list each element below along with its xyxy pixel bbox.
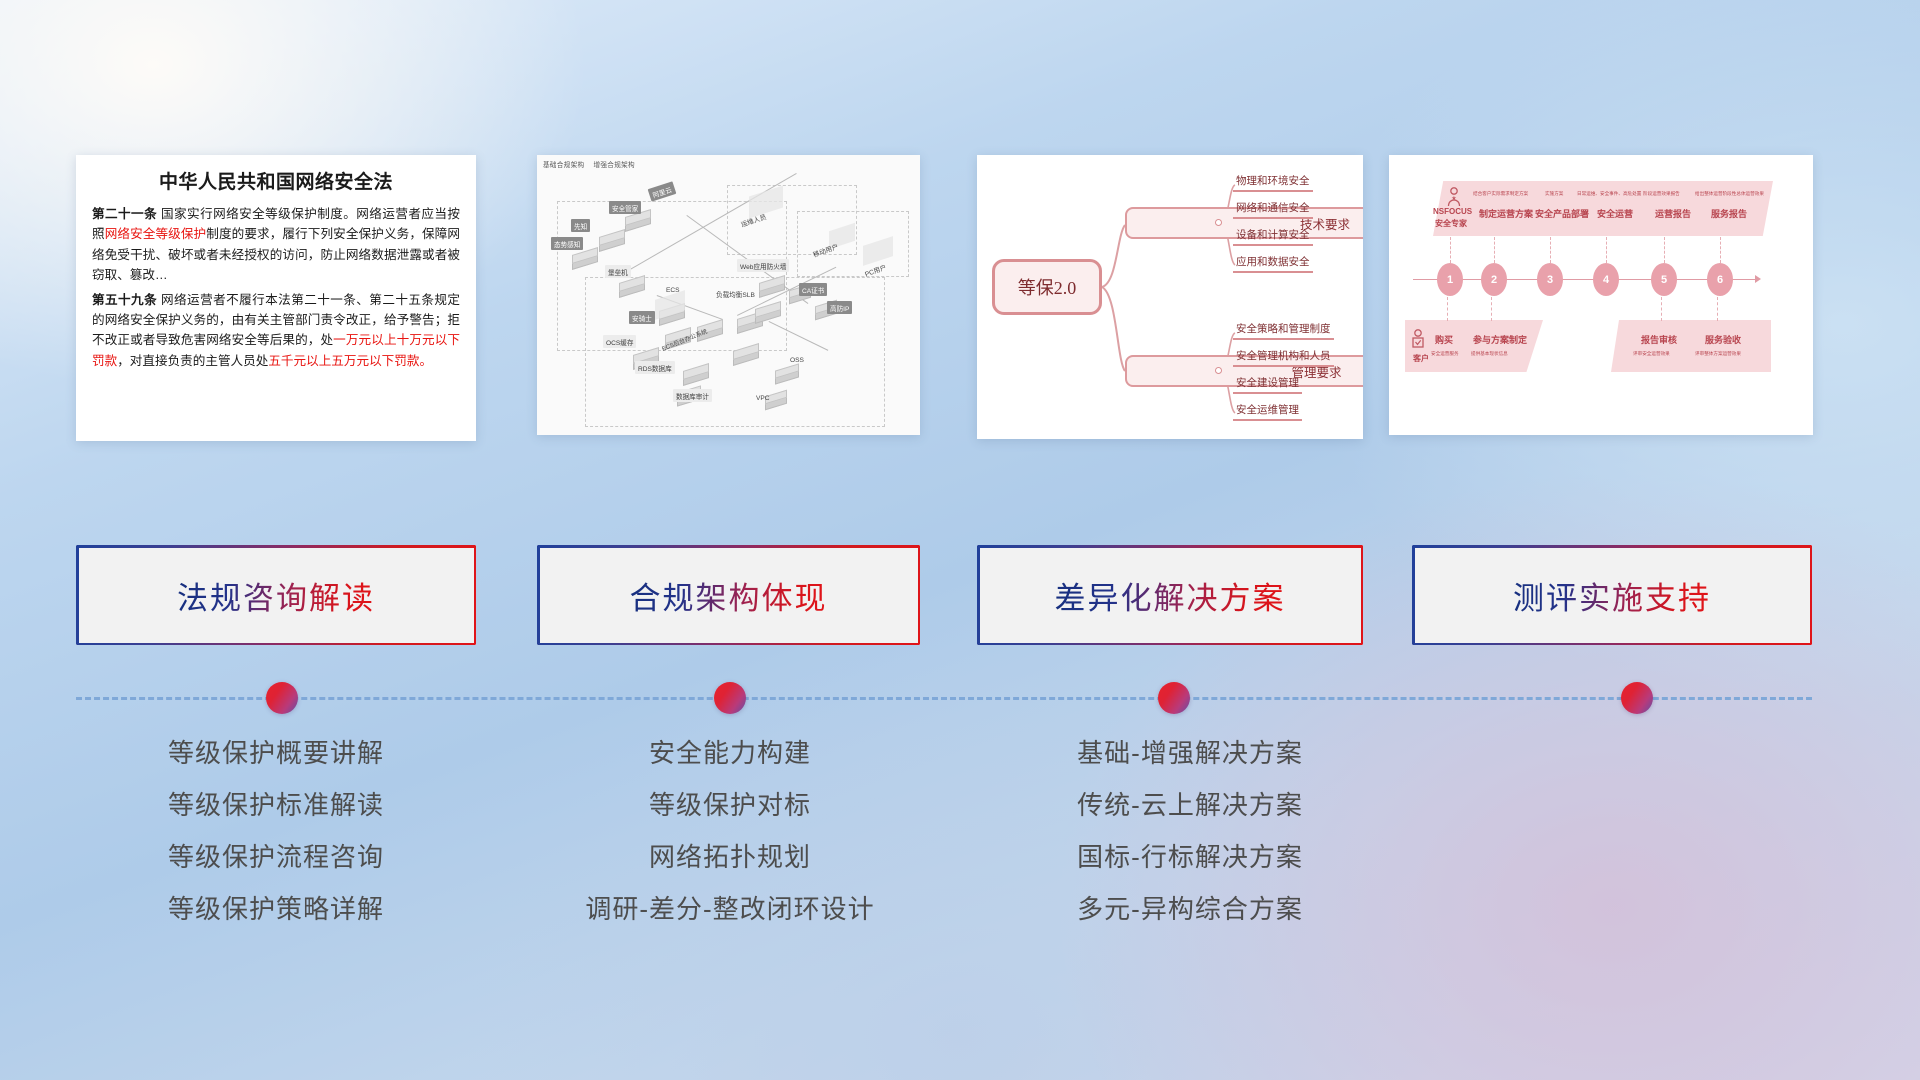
customer-title: 参与方案制定 [1473, 333, 1527, 346]
server-icon [572, 251, 598, 267]
lead-line [1491, 297, 1492, 321]
server-icon [755, 305, 781, 321]
list-item: 等级保护策略详解 [76, 896, 476, 922]
timeline-axis [1413, 279, 1757, 280]
label-ecs: ECS [663, 285, 683, 295]
expert-title: 安全产品部署 [1535, 207, 1589, 220]
mindmap-leaf: 网络和通信安全 [1233, 200, 1313, 219]
label-oss: OSS [787, 355, 807, 365]
mindmap-leaf: 安全管理机构和人员 [1233, 348, 1334, 367]
lead-line [1550, 237, 1551, 263]
mindmap-leaf: 应用和数据安全 [1233, 254, 1313, 273]
banner-differentiated-solution[interactable]: 差异化解决方案 [977, 545, 1363, 645]
expert-sub: 阶段运营效果报告 [1643, 191, 1680, 197]
lead-line [1720, 237, 1721, 263]
mindmap-root: 等保2.0 [992, 259, 1102, 315]
label-ocs-cache: OCS缓存 [603, 335, 636, 348]
list-item: 基础-增强解决方案 [960, 740, 1420, 766]
banner-assessment-support[interactable]: 测评实施支持 [1412, 545, 1812, 645]
server-icon [759, 279, 785, 295]
timeline-dot[interactable] [1158, 682, 1190, 714]
label-alicloud: 阿里云 [648, 181, 677, 201]
expert-person-icon: ★ [1445, 187, 1463, 207]
architecture-tabs: 基础合规架构 增强合规架构 [543, 159, 642, 169]
customer-sub: 安全运营服务 [1431, 351, 1459, 357]
server-icon [599, 233, 625, 249]
customer-label: 客户 [1413, 353, 1429, 364]
label-vpc: VPC [753, 393, 773, 403]
column-compliance-architecture: 安全能力构建 等级保护对标 网络拓扑规划 调研-差分-整改闭环设计 [500, 740, 960, 948]
column-differentiated-solution: 基础-增强解决方案 传统-云上解决方案 国标-行标解决方案 多元-异构综合方案 [960, 740, 1420, 948]
lead-line [1717, 297, 1718, 321]
article-number: 第二十一条 [92, 207, 157, 221]
customer-sub: 提供基本现状信息 [1471, 351, 1508, 357]
banner-label: 差异化解决方案 [1055, 573, 1286, 618]
expert-title: 服务报告 [1711, 207, 1747, 220]
expert-sub: 日常运维、安全事件、高危处置 [1577, 191, 1641, 197]
mindmap-leaf: 安全策略和管理制度 [1233, 321, 1334, 340]
lead-line [1450, 237, 1451, 263]
law-article-59: 第五十九条 网络运营者不履行本法第二十一条、第二十五条规定的网络安全保护义务的，… [92, 290, 460, 372]
lead-line [1661, 297, 1662, 321]
customer-sub: 评审整体方案运营效果 [1695, 351, 1741, 357]
article-body-2: ，对直接负责的主管人员处 [117, 354, 268, 368]
customer-sub: 评审安全运营效果 [1633, 351, 1670, 357]
timeline-dot[interactable] [266, 682, 298, 714]
column-regulation-consulting: 等级保护概要讲解 等级保护标准解读 等级保护流程咨询 等级保护策略详解 [76, 740, 476, 948]
list-item: 等级保护标准解读 [76, 792, 476, 818]
timeline-step[interactable]: 6 [1707, 263, 1733, 296]
law-title: 中华人民共和国网络安全法 [92, 167, 460, 194]
mindmap: 等保2.0 技术要求 物理和环境安全 网络和通信安全 设备和计算安全 应用和数据… [977, 155, 1363, 439]
mindmap-leaf: 设备和计算安全 [1233, 227, 1313, 246]
banner-regulation-consulting[interactable]: 法规咨询解读 [76, 545, 476, 645]
label-rds-db: RDS数据库 [635, 361, 675, 374]
banner-label: 测评实施支持 [1513, 573, 1711, 618]
list-item: 网络拓扑规划 [500, 844, 960, 870]
mindmap-leaf: 安全建设管理 [1233, 375, 1302, 394]
list-item: 等级保护流程咨询 [76, 844, 476, 870]
server-icon [775, 367, 799, 382]
list-item: 安全能力构建 [500, 740, 960, 766]
server-icon [619, 279, 645, 295]
timeline-connector [76, 697, 1812, 700]
expert-title: 安全运营 [1597, 207, 1633, 220]
customer-person-icon [1409, 329, 1427, 351]
label-security-butler: 安全管家 [609, 201, 641, 214]
list-item: 传统-云上解决方案 [960, 792, 1420, 818]
mindmap-leaf: 安全运维管理 [1233, 402, 1302, 421]
cybersecurity-law-card[interactable]: 中华人民共和国网络安全法 第二十一条 国家实行网络安全等级保护制度。网络运营者应… [76, 155, 476, 441]
timeline-dot[interactable] [714, 682, 746, 714]
label-ca-cert: CA证书 [799, 283, 827, 296]
law-document: 中华人民共和国网络安全法 第二十一条 国家实行网络安全等级保护制度。网络运营者应… [76, 155, 476, 371]
lead-line [1606, 237, 1607, 263]
lead-line [1664, 237, 1665, 263]
expert-title: 制定运营方案 [1479, 207, 1533, 220]
article-highlight-2: 五千元以上五万元以下罚款。 [268, 354, 432, 368]
customer-band-right [1611, 320, 1771, 372]
server-icon [683, 367, 709, 383]
mindmap-leaf: 物理和环境安全 [1233, 173, 1313, 192]
expert-sub: 实施方案 [1545, 191, 1563, 197]
list-item: 等级保护对标 [500, 792, 960, 818]
timeline-step[interactable]: 1 [1437, 263, 1463, 296]
list-item: 调研-差分-整改闭环设计 [500, 896, 960, 922]
banner-compliance-architecture[interactable]: 合规架构体现 [537, 545, 920, 645]
tab-basic[interactable]: 基础合规架构 [543, 162, 584, 169]
service-timeline: ★ NSFOCUS 安全专家 结合客户实际需求制定方案 制定运营方案 实施方案 … [1389, 155, 1813, 435]
timeline-step[interactable]: 2 [1481, 263, 1507, 296]
expert-label-line1: NSFOCUS [1433, 207, 1472, 216]
nsfocus-service-timeline-card[interactable]: ★ NSFOCUS 安全专家 结合客户实际需求制定方案 制定运营方案 实施方案 … [1389, 155, 1813, 435]
mindmap-collapse-icon[interactable] [1215, 367, 1222, 374]
customer-title: 报告审核 [1641, 333, 1677, 346]
server-icon [733, 347, 759, 363]
timeline-arrow-icon [1755, 275, 1761, 283]
label-xianzhi: 先知 [571, 219, 590, 232]
timeline-step[interactable]: 3 [1537, 263, 1563, 296]
timeline-dot[interactable] [1621, 682, 1653, 714]
timeline-step[interactable]: 4 [1593, 263, 1619, 296]
timeline-step[interactable]: 5 [1651, 263, 1677, 296]
label-db-audit: 数据库审计 [673, 389, 712, 402]
customer-title: 服务验收 [1705, 333, 1741, 346]
expert-label-line2: 安全专家 [1435, 218, 1467, 229]
dengbao-mindmap-card[interactable]: 等保2.0 技术要求 物理和环境安全 网络和通信安全 设备和计算安全 应用和数据… [977, 155, 1363, 439]
expert-title: 运营报告 [1655, 207, 1691, 220]
timeline-dashed-line [76, 697, 1812, 700]
label-anqishi: 安骑士 [629, 311, 655, 324]
banner-row: 法规咨询解读 合规架构体现 差异化解决方案 测评实施支持 [0, 545, 1920, 645]
article-highlight: 网络安全等级保护 [105, 227, 207, 241]
card-row: 中华人民共和国网络安全法 第二十一条 国家实行网络安全等级保护制度。网络运营者应… [0, 155, 1920, 445]
lead-line [1494, 237, 1495, 263]
label-bastion-host: 堡垒机 [605, 265, 631, 278]
lead-line [1447, 297, 1448, 321]
mindmap-collapse-icon[interactable] [1215, 219, 1222, 226]
banner-label: 法规咨询解读 [177, 573, 375, 618]
architecture-diagram: 基础合规架构 增强合规架构 [537, 155, 920, 435]
server-icon [625, 213, 651, 229]
customer-title: 购买 [1435, 333, 1453, 346]
list-item: 国标-行标解决方案 [960, 844, 1420, 870]
list-item: 多元-异构综合方案 [960, 896, 1420, 922]
expert-sub: 给出整体运营阶段性总体运营效果 [1695, 191, 1764, 197]
law-article-21: 第二十一条 国家实行网络安全等级保护制度。网络运营者应当按照网络安全等级保护制度… [92, 204, 460, 286]
banner-label: 合规架构体现 [630, 573, 828, 618]
label-anti-ddos-ip: 高防IP [827, 301, 852, 314]
tab-enhanced[interactable]: 增强合规架构 [594, 162, 635, 169]
label-waf: Web应用防火墙 [737, 259, 789, 272]
article-number: 第五十九条 [92, 293, 157, 307]
list-item: 等级保护概要讲解 [76, 740, 476, 766]
svg-text:★: ★ [1451, 195, 1456, 202]
expert-sub: 结合客户实际需求制定方案 [1473, 191, 1528, 197]
cloud-architecture-card[interactable]: 基础合规架构 增强合规架构 [537, 155, 920, 435]
label-slb: 负载均衡SLB [713, 287, 758, 300]
slide-root: 中华人民共和国网络安全法 第二十一条 国家实行网络安全等级保护制度。网络运营者应… [0, 0, 1920, 1080]
label-situational-awareness: 态势感知 [551, 237, 583, 250]
